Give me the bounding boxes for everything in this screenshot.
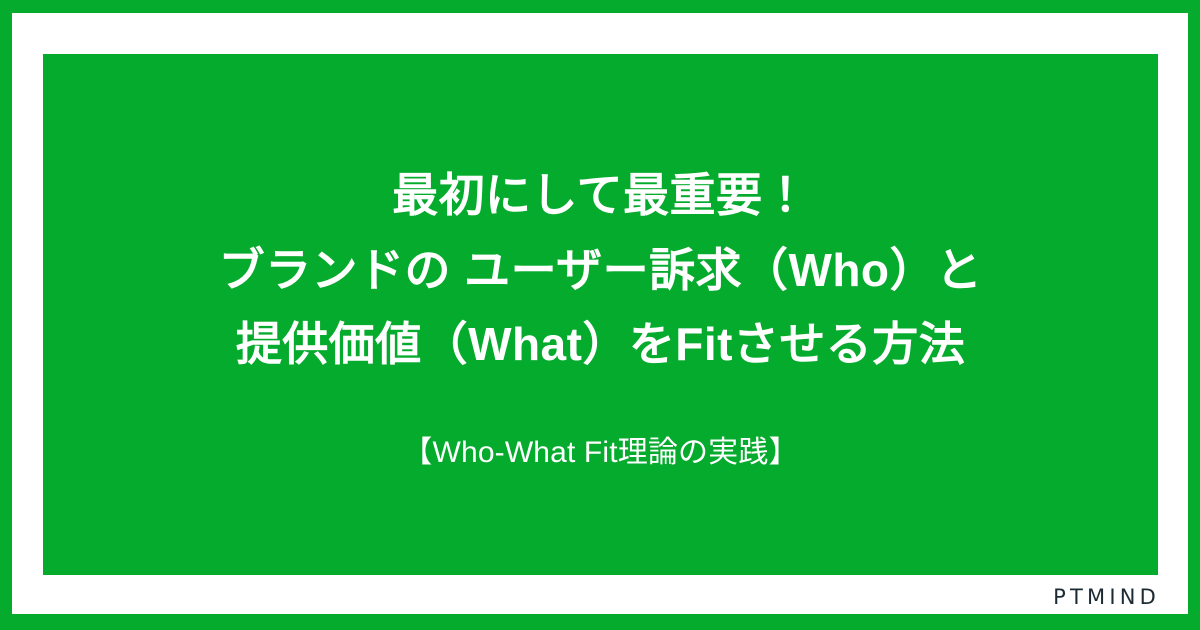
hero-panel: 最初にして最重要！ ブランドの ユーザー訴求（Who）と 提供価値（What）を… bbox=[43, 54, 1158, 575]
frame-border-left bbox=[0, 0, 12, 630]
page-subtitle: 【Who-What Fit理論の実践】 bbox=[43, 432, 1158, 474]
og-image-canvas: 最初にして最重要！ ブランドの ユーザー訴求（Who）と 提供価値（What）を… bbox=[0, 0, 1200, 630]
title-line-3: 提供価値（What）をFitさせる方法 bbox=[43, 307, 1158, 382]
page-title: 最初にして最重要！ ブランドの ユーザー訴求（Who）と 提供価値（What）を… bbox=[43, 158, 1158, 382]
frame-border-bottom bbox=[0, 614, 1200, 630]
frame-border-right bbox=[1188, 0, 1200, 630]
frame-border-top bbox=[0, 0, 1200, 13]
title-line-2: ブランドの ユーザー訴求（Who）と bbox=[43, 233, 1158, 308]
ptmind-logo-wordmark: PTMIND bbox=[1053, 587, 1160, 608]
title-line-1: 最初にして最重要！ bbox=[43, 158, 1158, 233]
